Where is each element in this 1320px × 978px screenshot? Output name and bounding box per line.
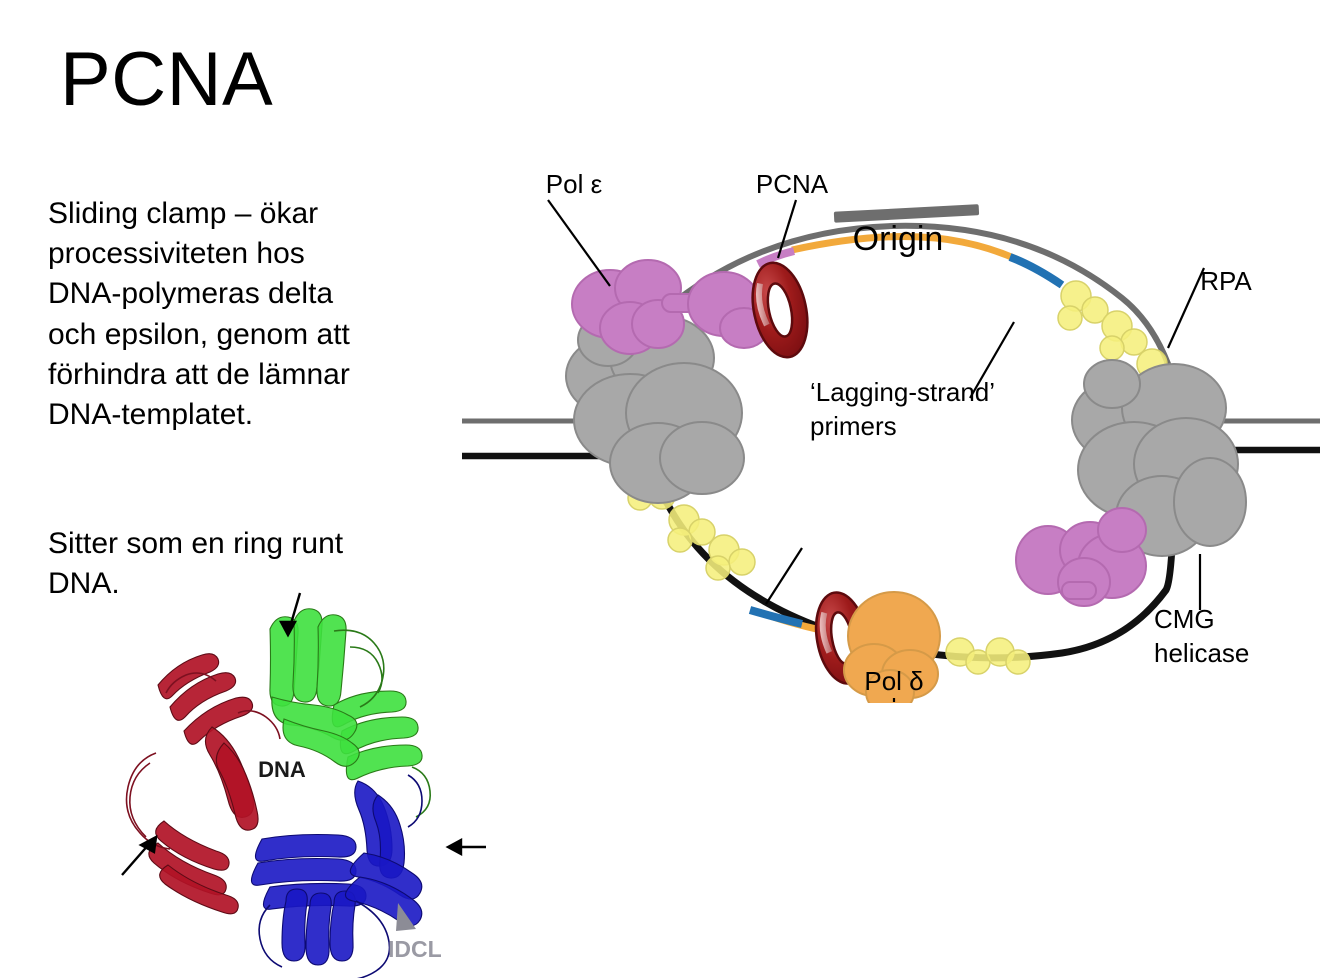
label-lagging-strand-primers-line2: primers [810,411,897,441]
label-rpa: RPA [1200,266,1252,296]
leader-pol-epsilon [548,200,610,286]
replication-bubble-diagram: Pol ε PCNA Origin RPA ‘Lagging-strand’ p… [462,158,1320,703]
label-cmg-helicase-line1: CMG [1154,604,1215,634]
rpa-beads-bottom-right [946,638,1030,674]
label-pcna: PCNA [756,169,829,199]
label-pol-epsilon: Pol ε [546,169,603,199]
leader-lagging-bottom [766,548,802,604]
interface-arrow-right [448,840,486,854]
structure-dna-label: DNA [258,757,306,782]
structure-subunit-green [270,609,430,817]
pol-epsilon-right [1016,508,1146,606]
page-title: PCNA [60,42,273,118]
bubble-top-rna-primer [1010,257,1062,285]
body-paragraph-1: Sliding clamp – ökar processiviteten hos… [48,194,358,435]
label-pol-delta: Pol δ [864,666,923,696]
slide-canvas: PCNA Sliding clamp – ökar processivitete… [0,0,1320,978]
label-cmg-helicase-line2: helicase [1154,638,1249,668]
leader-rpa [1168,268,1204,348]
pcna-crystal-structure-figure: DNA [120,585,490,978]
label-origin: Origin [853,220,944,258]
idcl-label: IDCL [388,936,442,962]
label-lagging-strand-primers-line1: ‘Lagging-strand’ [810,377,995,407]
